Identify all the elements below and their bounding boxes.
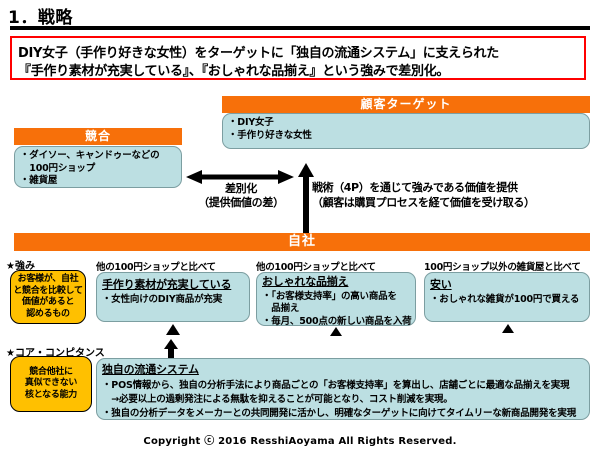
strength-column-1-heading: 手作り素材が充実している bbox=[102, 279, 244, 292]
strength-column-2-bullet-1: ・「お客様支持率」の高い商品を bbox=[262, 291, 410, 304]
competitor-box: ・ダイソー、キャンドゥーなどの 100円ショップ ・雑貨屋 bbox=[14, 146, 182, 188]
customer-target-box: ・DIY女子 ・手作り好きな女性 bbox=[222, 113, 590, 149]
core-competence-content: 独自の流通システム ・POS情報から、独自の分析手法により商品ごとの「お客様支持… bbox=[97, 359, 589, 421]
core-competence-up-arrow-icon bbox=[162, 339, 180, 359]
page-title: 1．戦略 bbox=[8, 3, 73, 28]
strength-column-3-content: 安い ・おしゃれな雑貨が100円で買える bbox=[425, 273, 589, 306]
strength-column-2-heading: おしゃれな品揃え bbox=[262, 276, 410, 289]
competitor-bullet-1: ・ダイソー、キャンドゥーなどの bbox=[20, 150, 176, 163]
core-competence-definition-line-1: 競合他社に bbox=[25, 367, 77, 379]
strength-column-1-box: 手作り素材が充実している ・女性向けのDIY商品が充実 bbox=[96, 272, 250, 322]
strength-definition-line-4: 認めるもの bbox=[13, 309, 82, 321]
strength-column-3-caption: 100円ショップ以外の雑貨屋と比べて bbox=[424, 259, 581, 273]
strength-column-3-bullet-1: ・おしゃれな雑貨が100円で買える bbox=[430, 294, 584, 307]
core-competence-definition-box: 競合他社に 真似できない 核となる能力 bbox=[10, 356, 92, 412]
strength-column-3-heading: 安い bbox=[430, 279, 584, 292]
strength-definition-line-1: お客様が、自社 bbox=[13, 274, 82, 286]
title-divider bbox=[10, 26, 590, 30]
strength-column-2-bullet-2: 品揃え bbox=[262, 303, 410, 316]
strength-column-2-box: おしゃれな品揃え ・「お客様支持率」の高い商品を 品揃え ・毎月、500点の新し… bbox=[256, 272, 416, 326]
competitor-bullet-2: 100円ショップ bbox=[20, 163, 176, 176]
headline-statement-box: DIY女子（手作り好きな女性）をターゲットに「独自の流通システム」に支えられた … bbox=[10, 36, 586, 80]
core-to-strength-3-arrow-icon bbox=[502, 324, 514, 334]
core-competence-bullet-3: ・独自の分析データをメーカーとの共同開発に活かし、明確なターゲットに向けてタイム… bbox=[102, 407, 584, 421]
strength-column-2-caption: 他の100円ショップと比べて bbox=[256, 259, 376, 273]
tactics-line-1: 戦術（4P）を通じて強みである価値を提供 bbox=[312, 180, 535, 195]
strength-column-1-caption: 他の100円ショップと比べて bbox=[96, 259, 216, 273]
core-competence-definition-line-2: 真似できない bbox=[25, 378, 77, 390]
headline-line-1: DIY女子（手作り好きな女性）をターゲットに「独自の流通システム」に支えられた bbox=[18, 42, 499, 61]
strength-column-1-bullet-1: ・女性向けのDIY商品が充実 bbox=[102, 294, 244, 307]
core-competence-definition-line-3: 核となる能力 bbox=[25, 390, 77, 402]
core-competence-bullet-1: ・POS情報から、独自の分析手法により商品ごとの「お客様支持率」を算出し、店舗ご… bbox=[102, 379, 584, 393]
competitor-bullets: ・ダイソー、キャンドゥーなどの 100円ショップ ・雑貨屋 bbox=[15, 147, 181, 188]
strength-definition-line-2: と競合を比較して bbox=[13, 286, 82, 298]
strength-column-2-content: おしゃれな品揃え ・「お客様支持率」の高い商品を 品揃え ・毎月、500点の新し… bbox=[257, 273, 415, 328]
strength-definition-line-3: 価値があると bbox=[13, 297, 82, 309]
core-competence-bullet-2: →必要以上の過剰発注による無駄を抑えることが可能となり、コスト削減を実現。 bbox=[102, 393, 584, 407]
core-to-strength-1-arrow-icon bbox=[166, 324, 180, 336]
core-competence-heading: 独自の流通システム bbox=[102, 363, 584, 377]
core-competence-box: 独自の流通システム ・POS情報から、独自の分析手法により商品ごとの「お客様支持… bbox=[96, 358, 590, 420]
customer-target-bullet-1: ・DIY女子 bbox=[228, 117, 584, 130]
differentiation-label: 差別化 （提供価値の差） bbox=[186, 182, 296, 210]
tactics-line-2: （顧客は購買プロセスを経て価値を受け取る） bbox=[312, 195, 535, 210]
headline-line-2: 『手作り素材が充実している』、『おしゃれな品揃え』という強みで差別化。 bbox=[18, 60, 449, 79]
core-competence-definition-text: 競合他社に 真似できない 核となる能力 bbox=[25, 367, 77, 402]
customer-target-banner: 顧客ターゲット bbox=[222, 96, 590, 113]
competitor-bullet-3: ・雑貨屋 bbox=[20, 175, 176, 188]
strength-definition-text: お客様が、自社 と競合を比較して 価値があると 認めるもの bbox=[13, 274, 82, 320]
competitor-banner: 競合 bbox=[14, 128, 182, 145]
copyright-notice: Copyright ⓒ 2016 ResshiAoyama All Rights… bbox=[0, 432, 600, 447]
strength-definition-box: お客様が、自社 と競合を比較して 価値があると 認めるもの bbox=[10, 270, 86, 324]
tactics-label: 戦術（4P）を通じて強みである価値を提供 （顧客は購買プロセスを経て価値を受け取… bbox=[312, 180, 535, 210]
company-banner: 自社 bbox=[14, 233, 590, 251]
customer-target-bullet-2: ・手作り好きな女性 bbox=[228, 130, 584, 143]
core-to-strength-2-arrow-icon bbox=[330, 327, 342, 337]
differentiation-line-2: （提供価値の差） bbox=[186, 196, 296, 210]
differentiation-line-1: 差別化 bbox=[186, 182, 296, 196]
strength-column-1-content: 手作り素材が充実している ・女性向けのDIY商品が充実 bbox=[97, 273, 249, 306]
strategy-slide: 1．戦略 DIY女子（手作り好きな女性）をターゲットに「独自の流通システム」に支… bbox=[0, 0, 600, 450]
strength-column-3-box: 安い ・おしゃれな雑貨が100円で買える bbox=[424, 272, 590, 322]
customer-target-bullets: ・DIY女子 ・手作り好きな女性 bbox=[223, 114, 589, 142]
